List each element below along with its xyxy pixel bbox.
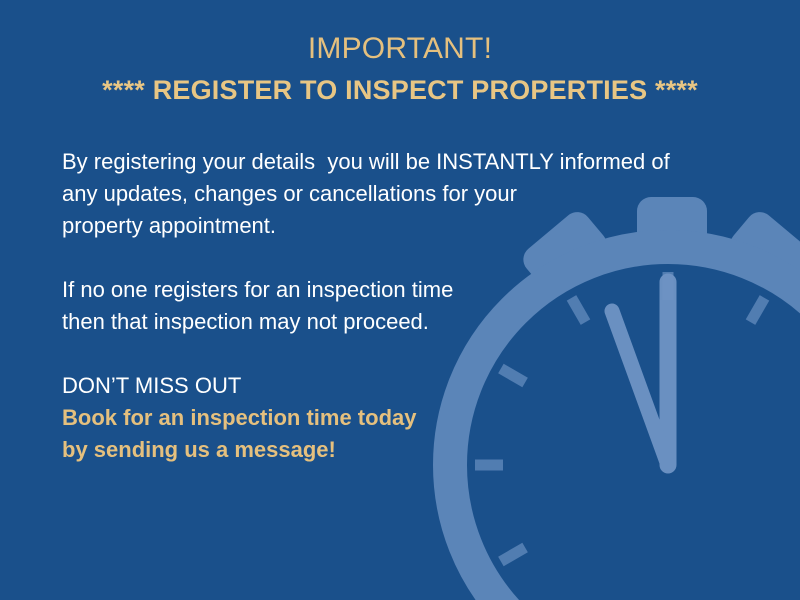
paragraph-no-registrations: If no one registers for an inspection ti… <box>62 274 722 338</box>
cta-send-message: by sending us a message! <box>62 434 722 466</box>
paragraph-spacer <box>62 242 722 274</box>
heading-block: IMPORTANT! **** REGISTER TO INSPECT PROP… <box>0 30 800 108</box>
cta-spacer <box>62 338 722 370</box>
heading-register: **** REGISTER TO INSPECT PROPERTIES **** <box>0 72 800 108</box>
paragraph-registering-details: By registering your details you will be … <box>62 146 722 242</box>
slide-canvas: IMPORTANT! **** REGISTER TO INSPECT PROP… <box>0 0 800 600</box>
heading-important: IMPORTANT! <box>0 30 800 68</box>
cta-dont-miss-out: DON’T MISS OUT <box>62 370 722 402</box>
body-block: By registering your details you will be … <box>62 146 722 466</box>
cta-book-inspection: Book for an inspection time today <box>62 402 722 434</box>
